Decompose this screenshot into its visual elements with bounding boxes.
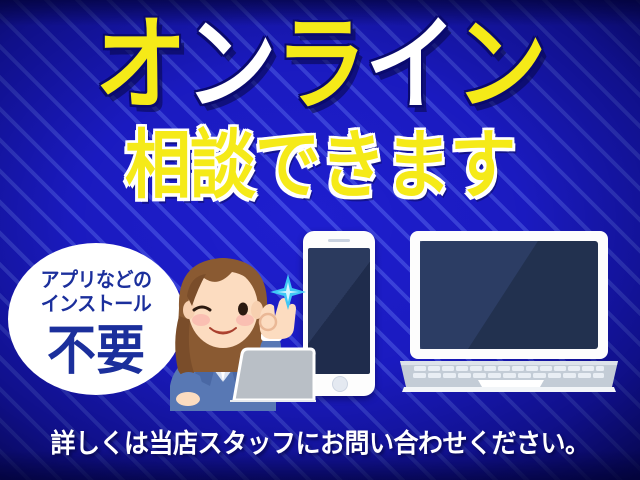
- headline-char-3: ラ: [275, 14, 365, 117]
- headline-char-5: ン: [455, 14, 545, 117]
- headline-char-4: イ: [365, 14, 455, 117]
- laptop-illustration: [398, 229, 620, 394]
- phone-speaker: [328, 239, 350, 242]
- bottom-caption: 詳しくは当店スタッフにお問い合わせください。: [0, 423, 640, 461]
- headline-online: オンライン: [0, 14, 640, 106]
- headline-char-1: オ: [95, 14, 185, 117]
- subheadline-consultation: 相談できます: [0, 127, 640, 193]
- subheadline-text: 相談できます: [125, 127, 515, 202]
- headline-char-2: ン: [185, 14, 275, 117]
- phone-home-button: [332, 376, 348, 392]
- woman-laptop-illustration: [228, 344, 318, 402]
- promotional-banner: オンライン 相談できます アプリなどの インストール 不要: [0, 0, 640, 480]
